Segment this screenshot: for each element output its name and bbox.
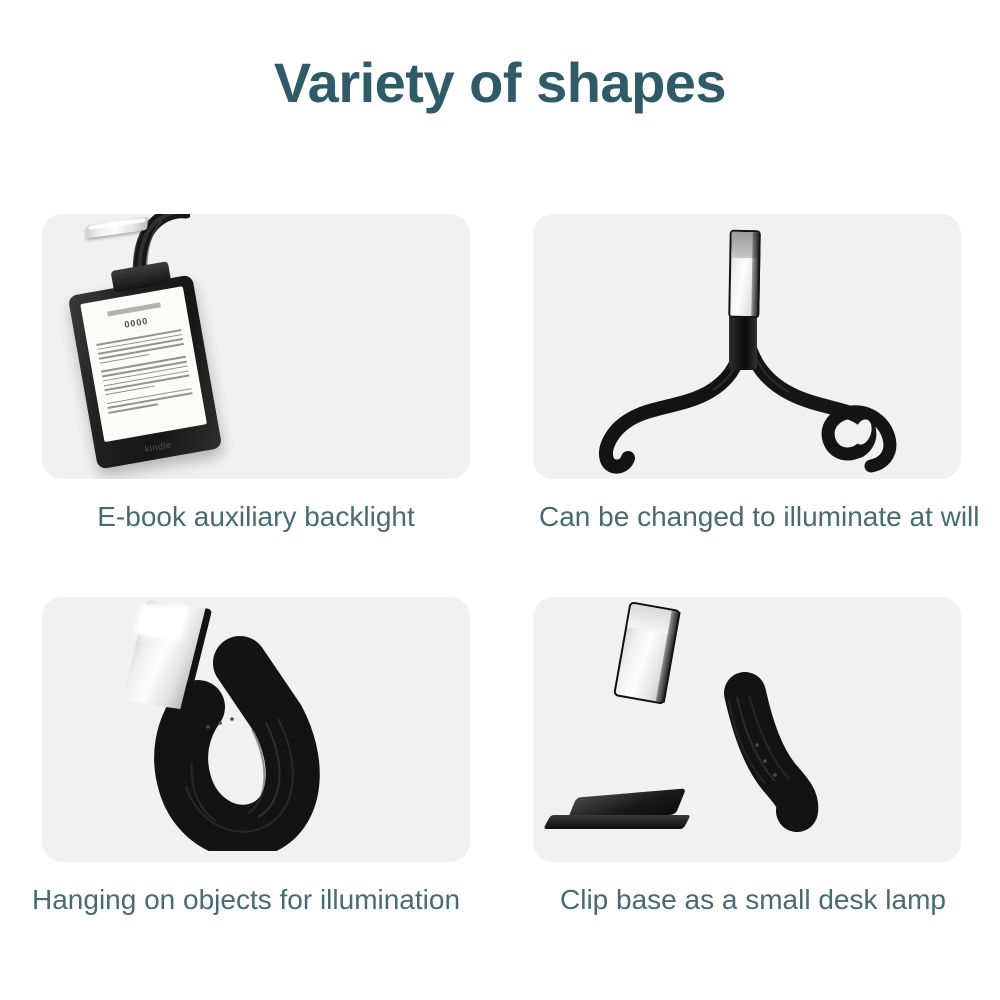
product-image-stage [42,597,470,862]
card-caption: Hanging on objects for illumination [32,882,460,917]
led-panel [135,604,186,639]
product-feature-page: Variety of shapes [0,0,1000,1000]
screen-body-text [96,329,197,436]
ereader-screen: 0000 [80,286,207,442]
led-light-head [728,230,761,319]
card-caption: E-book auxiliary backlight [42,499,470,534]
lamp-neck [729,314,757,370]
clip-base [547,779,695,833]
feature-card-hanging[interactable]: Hanging on objects for illumination [42,597,470,917]
product-photo-flexible-arm-lamp [533,214,961,479]
product-image-stage [533,597,961,862]
product-image-stage: 0000 kindle [42,214,470,479]
product-photo-clip-base-desk-lamp [533,597,961,862]
feature-card-desk-lamp[interactable]: Clip base as a small desk lamp [533,597,961,917]
ereader-device: 0000 kindle [68,274,223,469]
card-caption: Clip base as a small desk lamp [539,882,967,917]
card-caption: Can be changed to illuminate at will [539,499,967,534]
clip-lower-plate [543,815,690,829]
product-photo-kindle-with-clip-light: 0000 kindle [42,214,470,479]
feature-card-ebook-backlight[interactable]: 0000 kindle E-book auxilia [42,214,470,534]
feature-card-flexible-arm[interactable]: Can be changed to illuminate at will [533,214,961,534]
product-photo-hook-shaped-lamp [42,597,470,862]
product-image-stage [533,214,961,479]
page-title: Variety of shapes [0,52,1000,114]
